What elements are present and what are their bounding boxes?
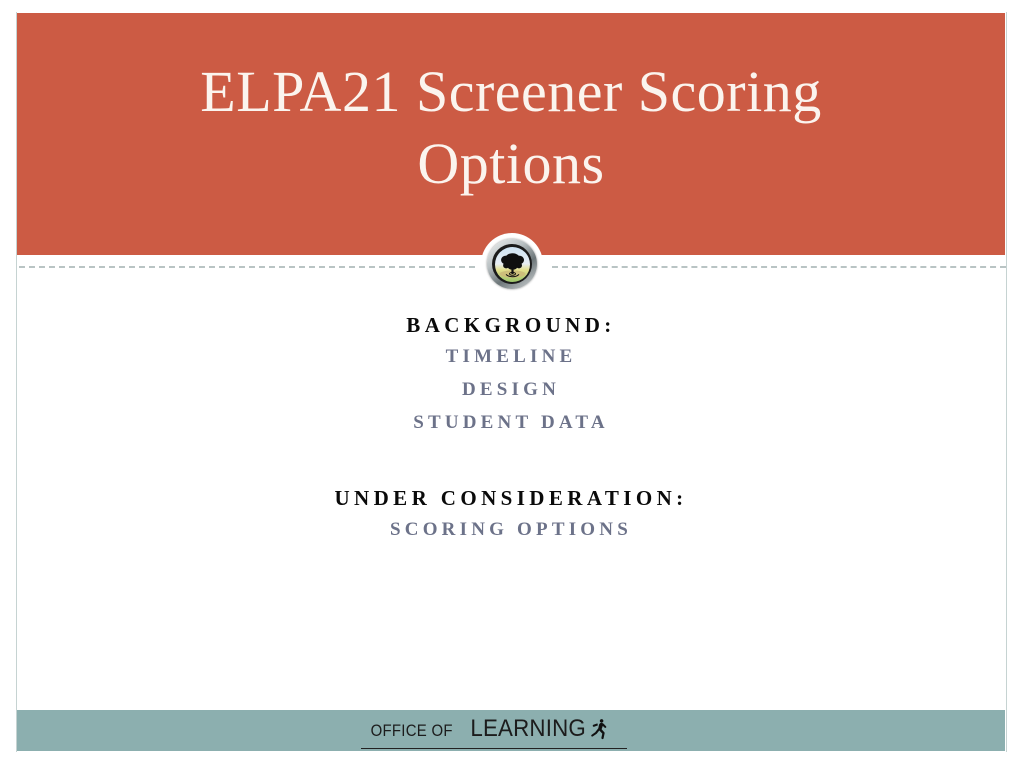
agenda-item: TIMELINE [17,340,1005,373]
emblem-sky-ground [495,247,530,282]
agenda-group: UNDER CONSIDERATION: SCORING OPTIONS [17,483,1005,546]
presentation-slide: ELPA21 Screener Scoring Options [0,0,1024,768]
logo-office-label: OFFICE OF [371,721,453,741]
tree-seal-emblem-icon [481,233,543,295]
agenda-item: SCORING OPTIONS [17,513,1005,546]
slide-right-edge-rule [1006,12,1007,752]
office-of-learning-logo: OFFICE OF LEARNING [17,710,1005,751]
agenda-group: BACKGROUND: TIMELINE DESIGN STUDENT DATA [17,310,1005,439]
dashed-separator-left [19,266,475,268]
agenda-heading: BACKGROUND: [17,310,1005,340]
agenda-block: BACKGROUND: TIMELINE DESIGN STUDENT DATA… [17,310,1005,546]
agenda-item: DESIGN [17,373,1005,406]
dashed-separator-right [552,266,1006,268]
emblem-dark-ring [492,244,532,284]
logo-learning-label: LEARNING [470,715,586,743]
logo-lockup: OFFICE OF LEARNING [365,715,609,746]
agenda-item: STUDENT DATA [17,406,1005,439]
slide-title: ELPA21 Screener Scoring Options [17,56,1005,200]
logo-underline [361,748,627,750]
footer-bar: OFFICE OF LEARNING [17,710,1005,751]
emblem-metal-ring [487,239,537,289]
running-person-icon [589,717,609,743]
agenda-heading: UNDER CONSIDERATION: [17,483,1005,513]
tree-icon [495,247,530,282]
